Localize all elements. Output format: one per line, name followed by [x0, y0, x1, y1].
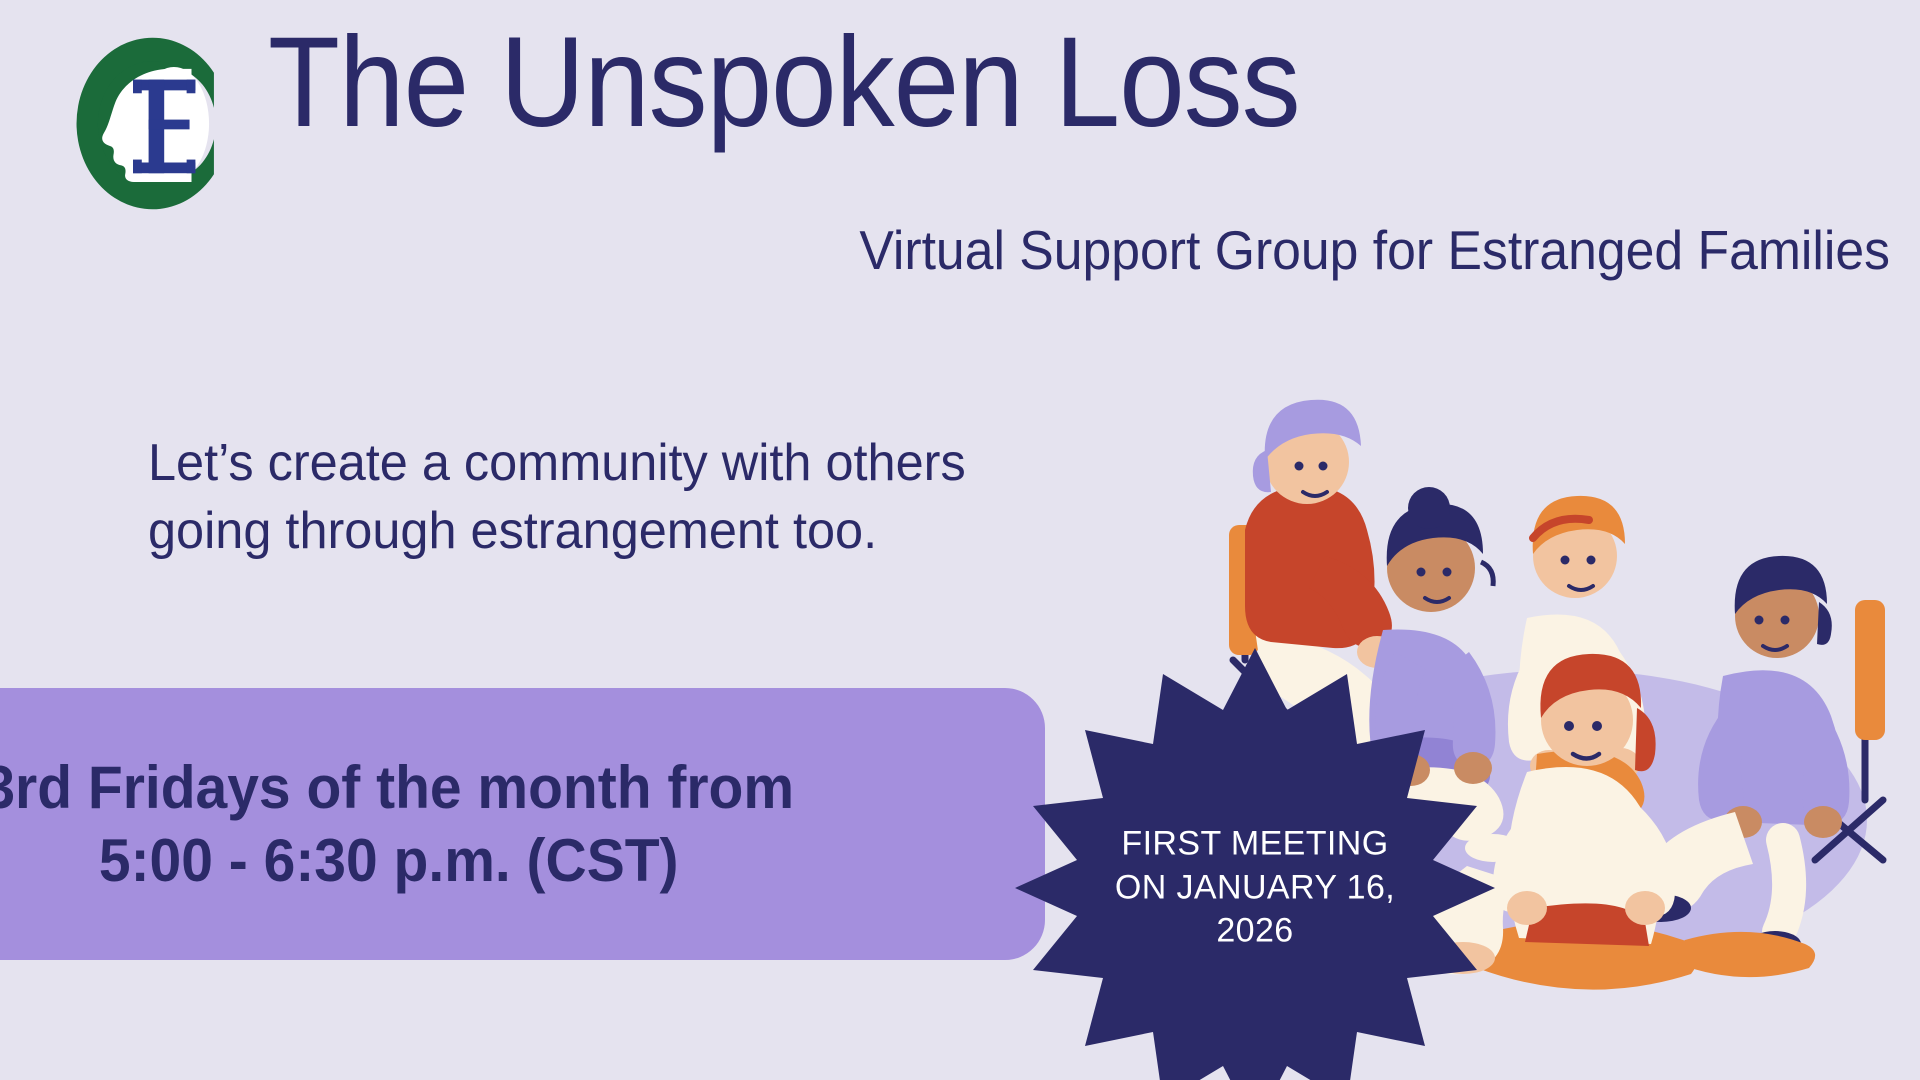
schedule-line-1: 3rd Fridays of the month from — [0, 751, 794, 824]
schedule-banner: 3rd Fridays of the month from 5:00 - 6:3… — [0, 688, 1045, 960]
body-copy: Let’s create a community with others goi… — [148, 430, 966, 565]
page-subtitle: Virtual Support Group for Estranged Fami… — [113, 218, 1890, 282]
page-title: The Unspoken Loss — [268, 18, 1300, 149]
organization-logo-icon — [55, 26, 250, 221]
badge-line-3: 2026 — [1216, 912, 1293, 950]
flyer-canvas: The Unspoken Loss Virtual Support Group … — [0, 0, 1920, 1080]
schedule-text: 3rd Fridays of the month from 5:00 - 6:3… — [0, 751, 1022, 897]
body-copy-line-2: going through estrangement too. — [148, 498, 966, 566]
badge-line-1: FIRST MEETING — [1121, 825, 1388, 863]
body-copy-line-1: Let’s create a community with others — [148, 430, 966, 498]
first-meeting-badge: FIRST MEETING ON JANUARY 16, 2026 — [1015, 648, 1495, 1080]
badge-text: FIRST MEETING ON JANUARY 16, 2026 — [1105, 823, 1405, 954]
badge-line-2: ON JANUARY 16, — [1115, 868, 1395, 906]
schedule-line-2: 5:00 - 6:30 p.m. (CST) — [0, 824, 794, 897]
header: The Unspoken Loss — [55, 18, 1389, 221]
